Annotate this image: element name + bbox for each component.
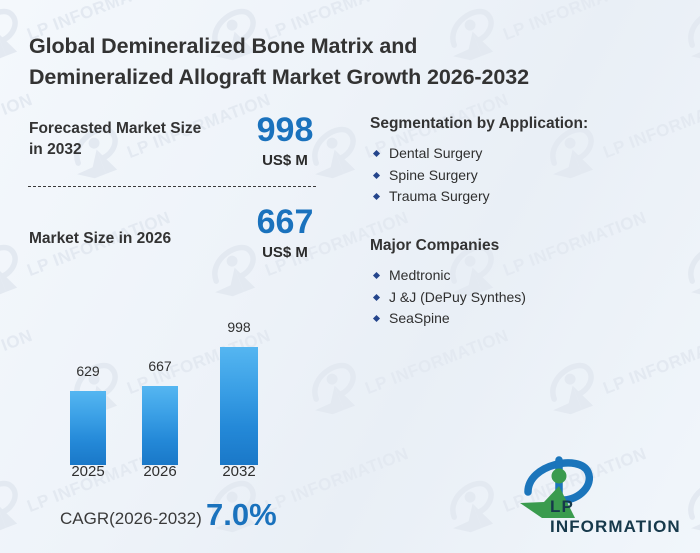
segmentation-item-label: Trauma Surgery: [389, 188, 490, 204]
companies-heading: Major Companies: [370, 237, 499, 255]
chart-bar-value: 629: [56, 363, 120, 379]
page-title: Global Demineralized Bone Matrix and Dem…: [29, 31, 669, 93]
segmentation-item: Spine Surgery: [372, 165, 490, 187]
company-item-label: Medtronic: [389, 267, 450, 283]
stat-label-size-2026: Market Size in 2026: [29, 228, 249, 249]
segmentation-item: Dental Surgery: [372, 143, 490, 165]
segmentation-heading: Segmentation by Application:: [370, 115, 588, 133]
chart-bar-value: 998: [206, 319, 272, 335]
market-growth-bar-chart: 629667998: [30, 325, 330, 465]
chart-x-tick-label: 2032: [206, 463, 272, 480]
cagr-label: CAGR(2026-2032): [60, 509, 202, 529]
chart-bar: [142, 386, 178, 465]
company-item: J &J (DePuy Synthes): [372, 287, 526, 309]
chart-bar: [220, 347, 258, 465]
infographic-canvas: LP INFORMATIONLP INFORMATIONLP INFORMATI…: [0, 0, 700, 553]
company-item-label: SeaSpine: [389, 310, 450, 326]
chart-bar: [70, 391, 106, 465]
company-item: Medtronic: [372, 265, 526, 287]
stats-divider: [28, 186, 316, 187]
chart-bar-value: 667: [128, 358, 192, 374]
segmentation-item: Trauma Surgery: [372, 186, 490, 208]
stat-unit-size-2026: US$ M: [225, 244, 345, 261]
diamond-bullet-icon: [373, 193, 380, 200]
chart-x-tick-label: 2025: [56, 463, 120, 480]
segmentation-list: Dental SurgerySpine SurgeryTrauma Surger…: [372, 143, 490, 208]
diamond-bullet-icon: [373, 272, 380, 279]
stat-unit-forecast-2032: US$ M: [225, 152, 345, 169]
diamond-bullet-icon: [373, 293, 380, 300]
stat-label-forecast-2032: Forecasted Market Size in 2032: [29, 118, 219, 160]
diamond-bullet-icon: [373, 315, 380, 322]
stat-value-forecast-2032: 998: [225, 112, 345, 148]
companies-list: MedtronicJ &J (DePuy Synthes)SeaSpine: [372, 265, 526, 330]
company-item: SeaSpine: [372, 308, 526, 330]
cagr-value: 7.0%: [206, 497, 277, 533]
segmentation-item-label: Spine Surgery: [389, 167, 478, 183]
title-line-1: Global Demineralized Bone Matrix and: [29, 34, 417, 58]
diamond-bullet-icon: [373, 150, 380, 157]
logo-wordmark: LP INFORMATION: [550, 497, 700, 537]
diamond-bullet-icon: [373, 171, 380, 178]
segmentation-item-label: Dental Surgery: [389, 145, 482, 161]
company-item-label: J &J (DePuy Synthes): [389, 289, 526, 305]
stat-value-size-2026: 667: [225, 204, 345, 240]
chart-x-tick-label: 2026: [128, 463, 192, 480]
title-line-2: Demineralized Allograft Market Growth 20…: [29, 62, 669, 93]
